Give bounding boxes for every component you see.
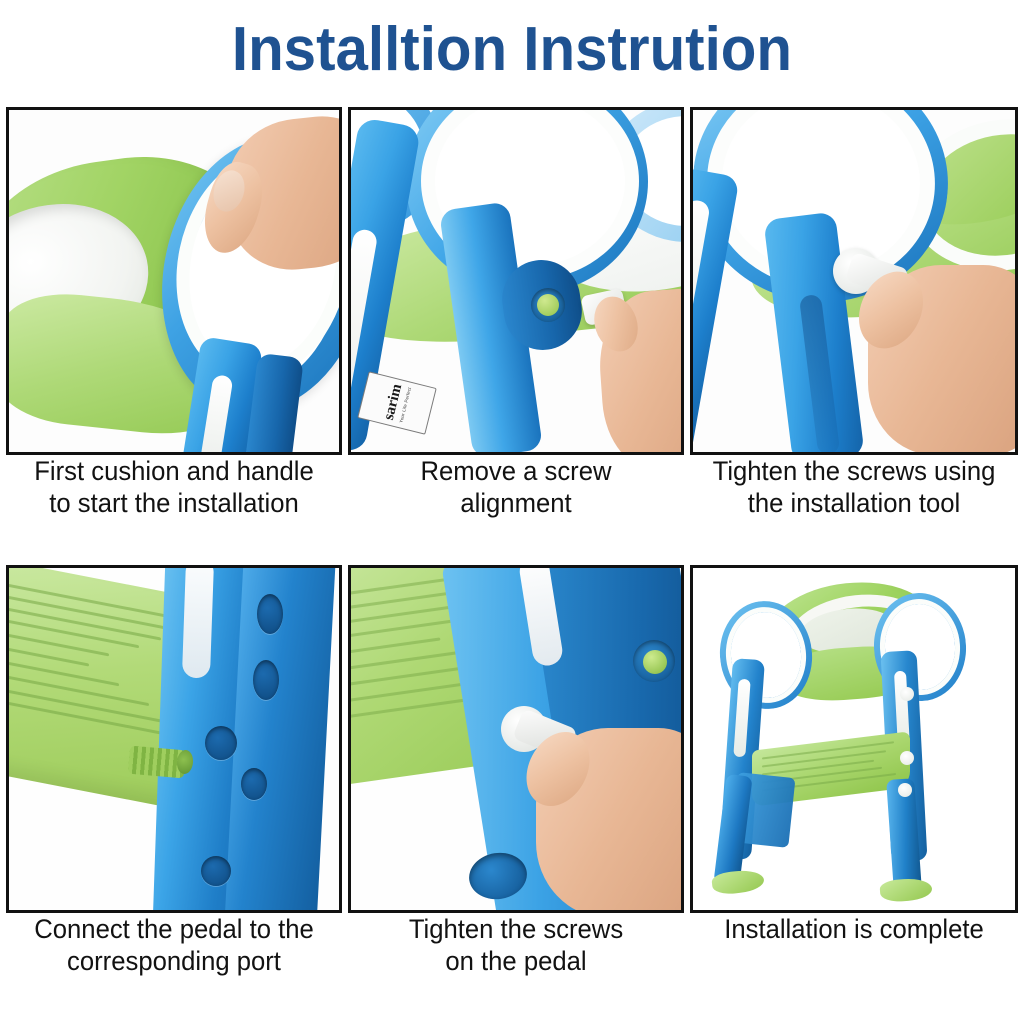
step-caption-1: First cushion and handle to start the in… (14, 455, 333, 519)
mounting-hole (241, 768, 267, 800)
step-card-4: Connect the pedal to the corresponding p… (6, 565, 342, 985)
green-screw (643, 650, 667, 674)
step-caption-3: Tighten the screws using the installatio… (698, 455, 1010, 519)
step-card-2: sarim Your Life Perfect Remove a screw a… (348, 107, 684, 527)
green-screw (537, 294, 559, 316)
step-card-5: Tighten the screws on the pedal (348, 565, 684, 985)
step-caption-4: Connect the pedal to the corresponding p… (14, 913, 333, 977)
rail-white-slot (182, 565, 214, 678)
step-image-2: sarim Your Life Perfect (348, 107, 684, 455)
step-image-1 (6, 107, 342, 455)
step-card-6: Installation is complete (690, 565, 1018, 985)
step-image-6 (690, 565, 1018, 913)
steps-grid: First cushion and handle to start the in… (0, 0, 1024, 1024)
mounting-hole (201, 856, 231, 886)
screw-cap (900, 687, 914, 701)
screw-cap (898, 783, 912, 797)
mounting-hole (205, 726, 237, 760)
assembled-product (704, 579, 1004, 899)
step-card-3: Tighten the screws using the installatio… (690, 107, 1018, 527)
step-caption-5: Tighten the screws on the pedal (356, 913, 675, 977)
step-card-1: First cushion and handle to start the in… (6, 107, 342, 527)
step-image-5 (348, 565, 684, 913)
green-foot-right (879, 877, 932, 903)
step-image-3 (690, 107, 1018, 455)
instruction-sheet: Installtion Instrution First cushion and… (0, 0, 1024, 1024)
mounting-hole (253, 660, 279, 700)
step-caption-2: Remove a screw alignment (356, 455, 675, 519)
mounting-hole (257, 594, 283, 634)
screw-cap (900, 751, 914, 765)
step-image-4 (6, 565, 342, 913)
step-caption-6: Installation is complete (698, 913, 1010, 945)
stem-shadow (799, 294, 840, 455)
white-strip (690, 199, 711, 351)
